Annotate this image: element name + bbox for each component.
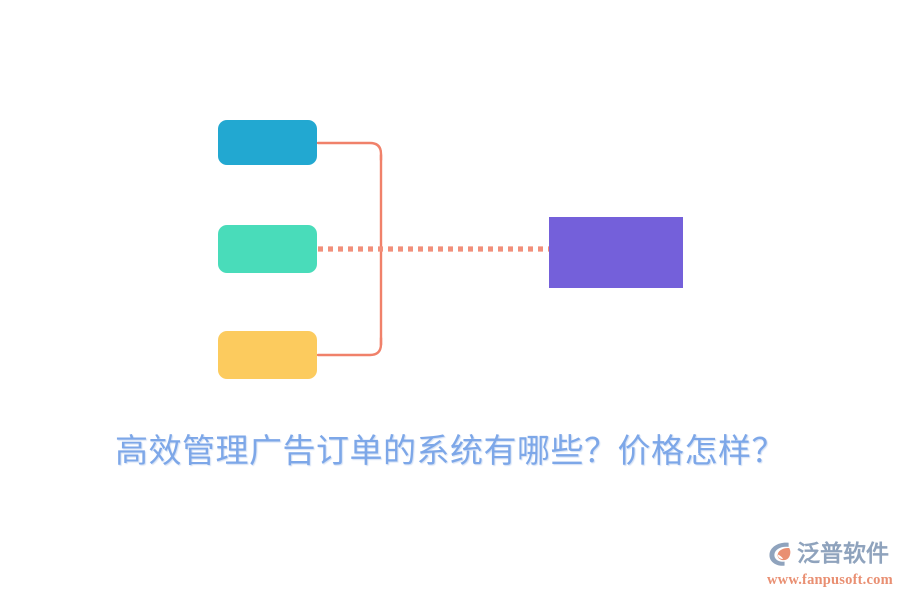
brand-url: www.fanpusoft.com [767,571,892,589]
diagram-node-purple[interactable] [549,217,683,288]
brand-name: 泛普软件 [797,539,889,568]
diagram-node-yellow[interactable] [218,331,317,379]
flow-diagram [0,0,900,410]
diagram-node-teal[interactable] [218,225,317,273]
connector-yellow-to-trunk [318,338,381,355]
diagram-connectors [0,0,900,410]
screenshot-canvas: 高效管理广告订单的系统有哪些？价格怎样？ 泛普软件 www.fanpusoft.… [0,0,900,600]
diagram-node-blue[interactable] [218,120,317,165]
fanpu-logo-icon [766,539,795,568]
page-title: 高效管理广告订单的系统有哪些？价格怎样？ [0,428,900,476]
brand-watermark: 泛普软件 www.fanpusoft.com [766,536,892,590]
connector-blue-to-trunk [318,143,381,160]
